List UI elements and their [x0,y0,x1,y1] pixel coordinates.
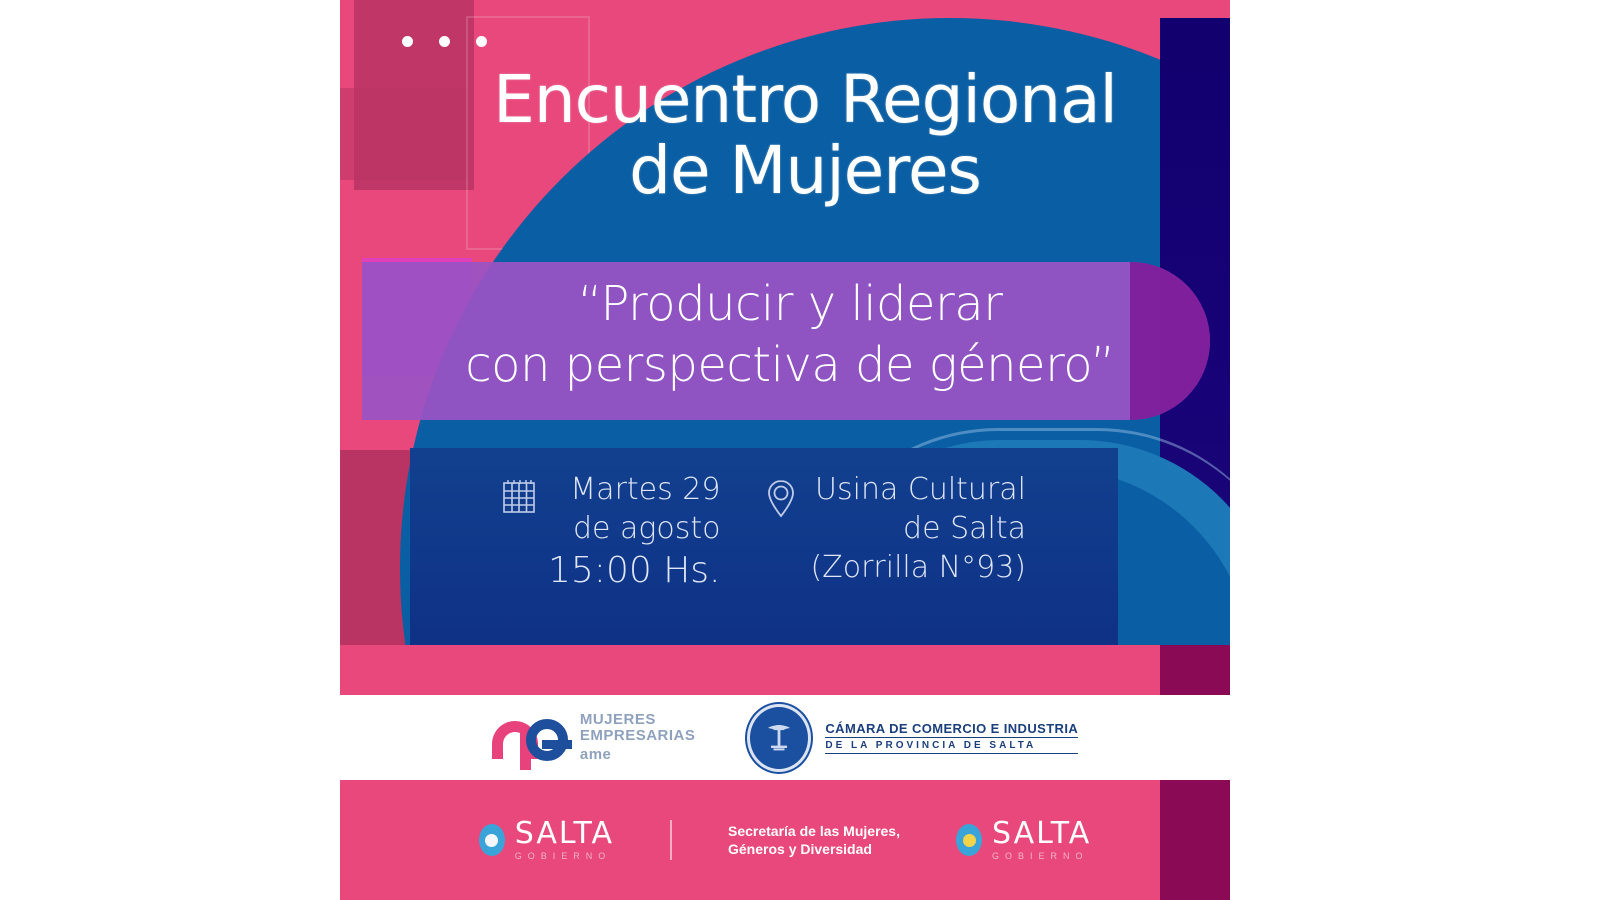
government-strip-right-accent [1160,780,1230,900]
detail-date-text: Martes 29 de agosto 15:00 Hs. [548,470,720,595]
logo-divider [670,820,672,860]
me-monogram-icon [492,713,572,761]
dot-icon [402,36,413,47]
detail-venue-line1: Usina Cultural [810,470,1026,509]
me-line1: MUJERES [580,712,696,728]
poster-subtitle-quote: “Producir y liderar con perspectiva de g… [340,274,1230,397]
detail-venue: Usina Cultural de Salta (Zorrilla N°93) [764,470,1026,587]
salta-gobierno-logo-left: SALTA GOBIERNO [479,819,614,861]
secretariat-line2: Géneros y Diversidad [728,840,900,858]
detail-date-line3: 15:00 Hs. [548,548,720,595]
me-wordmark: MUJERES EMPRESARIAS ame [580,712,696,763]
salta-name-right: SALTA [992,819,1091,849]
secretariat-name: Secretaría de las Mujeres, Géneros y Div… [728,822,900,858]
sponsor-logo-strip: MUJERES EMPRESARIAS ame CÁMARA DE COMERC… [340,695,1230,780]
detail-venue-line3: (Zorrilla N°93) [810,548,1026,587]
me-line2: EMPRESARIAS [580,728,696,744]
camara-seal-icon [747,704,811,772]
detail-venue-line2: de Salta [810,509,1026,548]
detail-date-line1: Martes 29 [548,470,720,509]
salta-wordmark-right: SALTA GOBIERNO [992,819,1091,861]
dot-icon [476,36,487,47]
salta-sub-right: GOBIERNO [992,852,1091,861]
poster-title-line2: de Mujeres [380,135,1230,206]
detail-date: Martes 29 de agosto 15:00 Hs. [502,470,720,595]
ame-sublogo: ame [580,747,696,763]
location-pin-icon [764,478,798,525]
event-poster: Encuentro Regional de Mujeres “Producir … [340,0,1230,900]
government-logo-strip: SALTA GOBIERNO Secretaría de las Mujeres… [340,780,1230,900]
details-columns: Martes 29 de agosto 15:00 Hs. Usina Cult… [410,470,1118,640]
dot-icon [439,36,450,47]
sun-of-may-icon [479,824,505,856]
salta-name-left: SALTA [515,819,614,849]
salta-wordmark-left: SALTA GOBIERNO [515,819,614,861]
quote-line2: con perspectiva de género” [465,337,1115,393]
camara-wordmark: CÁMARA DE COMERCIO E INDUSTRIA DE LA PRO… [825,721,1078,755]
salta-gobierno-logo-right: SALTA GOBIERNO [956,819,1091,861]
camara-line2: DE LA PROVINCIA DE SALTA [825,740,1078,754]
poster-bottom-pink-band [340,645,1230,695]
detail-date-line2: de agosto [548,509,720,548]
sun-of-may-icon [956,824,982,856]
detail-venue-text: Usina Cultural de Salta (Zorrilla N°93) [810,470,1026,587]
poster-bottom-right-accent [1160,645,1230,695]
quote-line1: “Producir y liderar [578,276,1003,332]
camara-comercio-logo: CÁMARA DE COMERCIO E INDUSTRIA DE LA PRO… [747,704,1078,772]
secretariat-line1: Secretaría de las Mujeres, [728,822,900,840]
camara-line1: CÁMARA DE COMERCIO E INDUSTRIA [825,721,1078,739]
poster-title: Encuentro Regional de Mujeres [340,64,1230,207]
screenshot-canvas: Encuentro Regional de Mujeres “Producir … [0,0,1600,900]
salta-sub-left: GOBIERNO [515,852,614,861]
poster-title-line1: Encuentro Regional [493,61,1117,138]
mujeres-empresarias-logo: MUJERES EMPRESARIAS ame [492,712,696,763]
calendar-icon [502,478,536,519]
decor-dots [402,36,487,47]
me-letter-e [526,719,568,761]
